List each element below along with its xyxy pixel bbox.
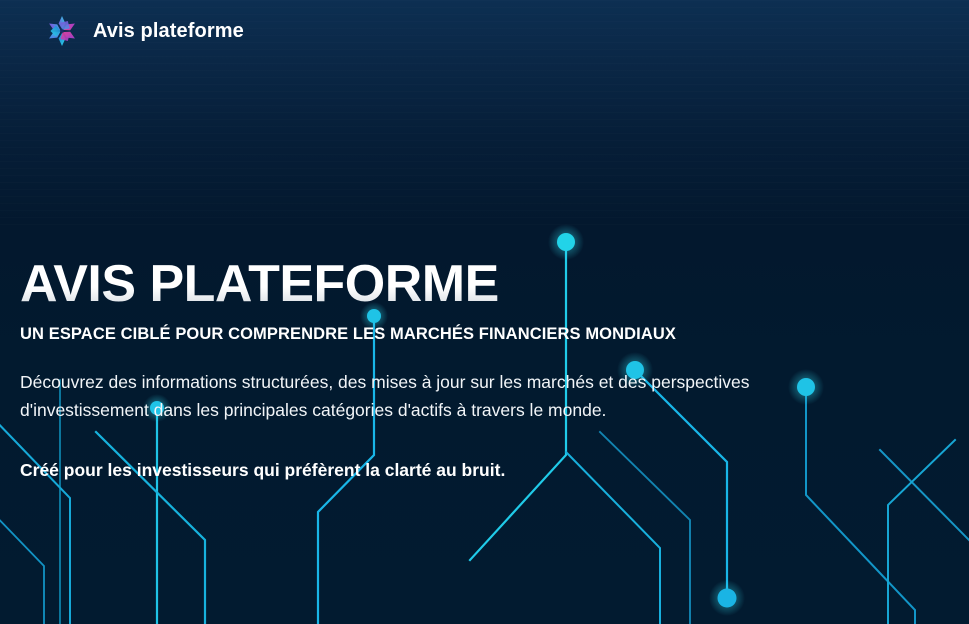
- brand-logo-link[interactable]: Avis plateforme: [45, 14, 244, 48]
- brand-name: Avis plateforme: [93, 20, 244, 43]
- hero-content: AVIS PLATEFORME UN ESPACE CIBLÉ POUR COM…: [20, 258, 820, 483]
- node-dot-3-glow: [548, 224, 584, 260]
- node-dot-6-glow: [709, 580, 745, 616]
- node-dot-3: [557, 233, 575, 251]
- hero-section: AVIS PLATEFORME UN ESPACE CIBLÉ POUR COM…: [0, 0, 969, 624]
- node-dot-6: [718, 589, 737, 608]
- circuit-trace-right-down-2: [888, 440, 955, 624]
- page-title: AVIS PLATEFORME: [20, 258, 820, 311]
- hero-kicker-text: Créé pour les investisseurs qui préfèren…: [20, 457, 820, 483]
- hero-body-text: Découvrez des informations structurées, …: [20, 368, 810, 425]
- circuit-trace-far-right: [880, 450, 969, 540]
- hero-page: Avis plateforme AVIS PLATEFORME UN ESPAC…: [0, 0, 969, 624]
- site-header: Avis plateforme: [0, 0, 969, 62]
- star-burst-logo-icon: [45, 14, 79, 48]
- circuit-trace-node5-stem: [806, 387, 915, 624]
- hero-subtitle: UN ESPACE CIBLÉ POUR COMPRENDRE LES MARC…: [20, 325, 820, 344]
- circuit-trace-left-2: [0, 508, 44, 624]
